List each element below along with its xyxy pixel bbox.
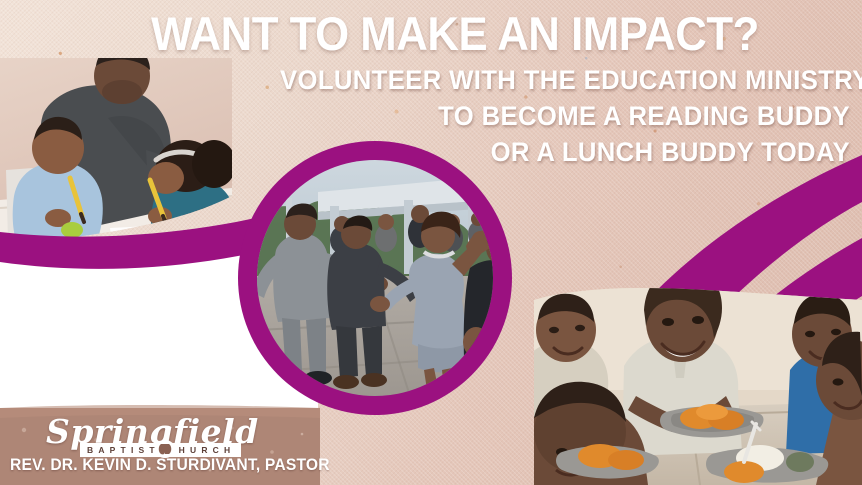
- tutoring-photo: [0, 44, 240, 250]
- pastor-line: REV. DR. KEVIN D. STURDIVANT, PASTOR: [10, 455, 330, 475]
- subheadline-block: VOLUNTEER WITH THE EDUCATION MINISTRY TO…: [250, 62, 850, 170]
- headline: WANT TO MAKE AN IMPACT?: [88, 8, 823, 60]
- lunch-photo: [520, 268, 862, 485]
- subheadline-line-2: TO BECOME A READING BUDDY: [280, 98, 850, 134]
- subheadline-line-1: VOLUNTEER WITH THE EDUCATION MINISTRY: [280, 62, 850, 98]
- flyer-canvas: WANT TO MAKE AN IMPACT? VOLUNTEER WITH T…: [0, 0, 862, 485]
- subheadline-line-3: OR A LUNCH BUDDY TODAY: [280, 134, 850, 170]
